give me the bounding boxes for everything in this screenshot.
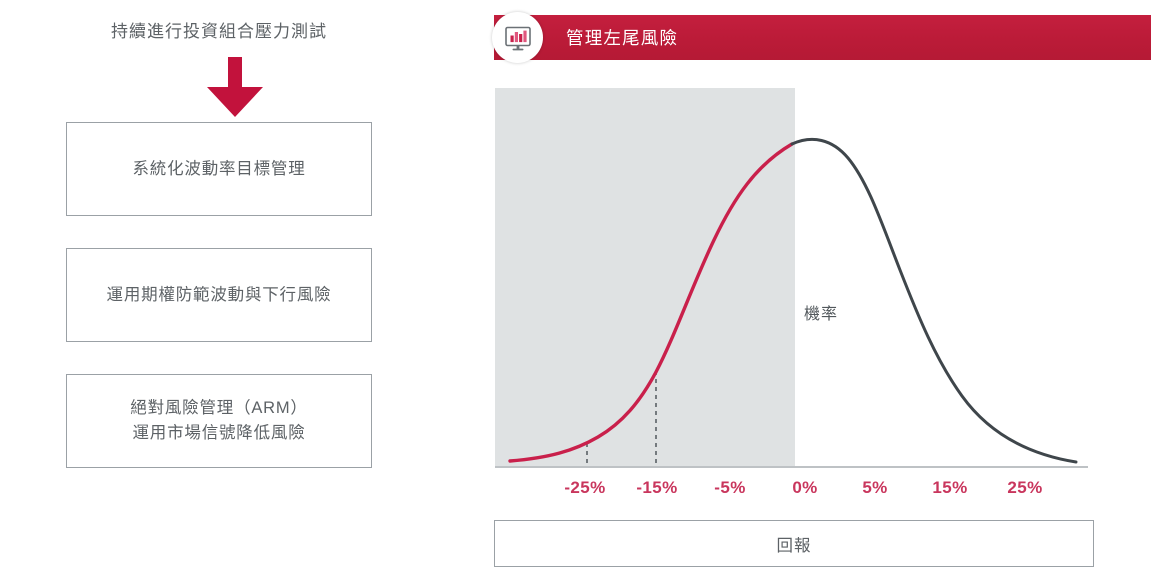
flow-box-volatility-target[interactable]: 系統化波動率目標管理 xyxy=(66,122,372,216)
x-tick-label-minus5: -5% xyxy=(700,478,760,498)
x-tick-label-15: 15% xyxy=(920,478,980,498)
flow-box-label: 絕對風險管理（ARM） 運用市場信號降低風險 xyxy=(130,396,307,446)
x-tick-label-5: 5% xyxy=(845,478,905,498)
probability-distribution-chart: -25% -15% -5% 0% 5% 15% 25% 機率 xyxy=(470,0,1164,520)
flow-box-label: 運用期權防範波動與下行風險 xyxy=(107,283,332,308)
x-tick-label-25: 25% xyxy=(995,478,1055,498)
flow-box-absolute-risk-management[interactable]: 絕對風險管理（ARM） 運用市場信號降低風險 xyxy=(66,374,372,468)
flow-box-options-hedging[interactable]: 運用期權防範波動與下行風險 xyxy=(66,248,372,342)
x-tick-label-minus25: -25% xyxy=(555,478,615,498)
flow-box-label: 系統化波動率目標管理 xyxy=(133,157,306,182)
x-tick-label-zero: 0% xyxy=(775,478,835,498)
flow-title: 持續進行投資組合壓力測試 xyxy=(66,20,372,44)
y-axis-annotation-label: 機率 xyxy=(804,300,838,324)
down-arrow-icon xyxy=(185,57,285,119)
process-flow-panel: 持續進行投資組合壓力測試 系統化波動率目標管理 運用期權防範波動與下行風險 絕對… xyxy=(0,0,470,586)
x-axis-caption-label: 回報 xyxy=(777,532,812,556)
shaded-left-tail-region xyxy=(495,88,795,466)
chart-panel: 管理左尾風險 -25% -15% -5% 0% 5% 15% 25% 機率 xyxy=(470,0,1164,586)
x-tick-label-minus15: -15% xyxy=(627,478,687,498)
x-axis-caption-box[interactable]: 回報 xyxy=(494,520,1094,567)
